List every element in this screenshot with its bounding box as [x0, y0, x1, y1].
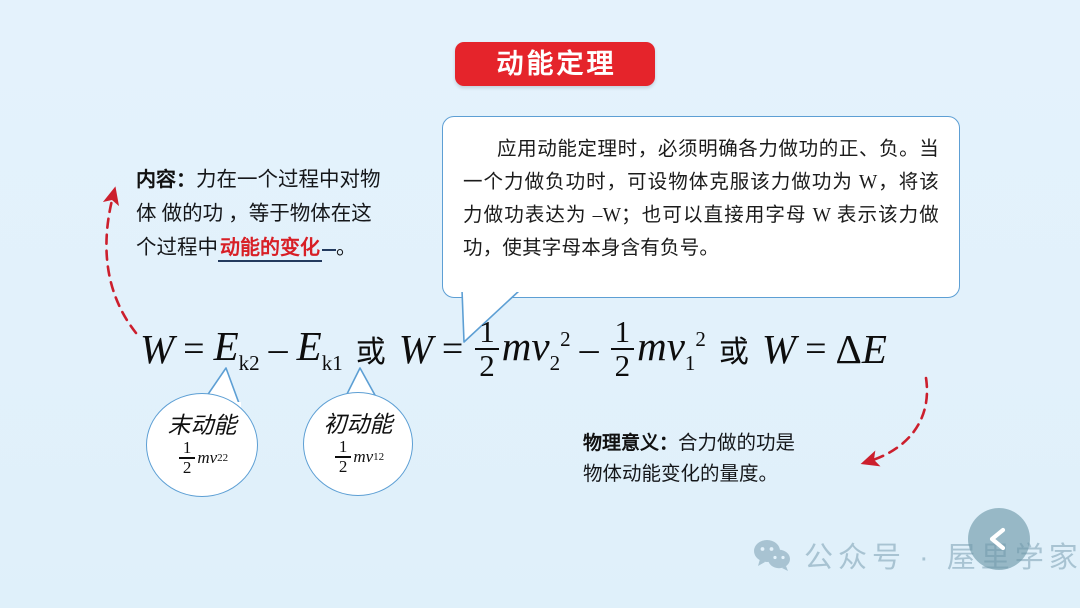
- slide-title-banner: 动能定理: [455, 42, 655, 86]
- formula-mv2-term: mv22: [502, 322, 571, 376]
- formula-w-3: W: [762, 325, 796, 373]
- main-formula: W = Ek2 – Ek1 或 W = 1 2 mv22 – 1 2 mv12 …: [140, 306, 887, 392]
- bubble-1-formula: 1 2 mv22: [176, 439, 228, 476]
- bubble-1-title: 末动能: [168, 413, 237, 438]
- bubble-2-frac: 1 2: [335, 438, 352, 475]
- formula-or-1: 或: [343, 327, 399, 371]
- content-line-3: 个过程中动能的变化。: [136, 231, 418, 265]
- formula-half-1: 1 2: [475, 316, 499, 382]
- meaning-line-1: 物理意义：合力做的功是: [583, 428, 853, 459]
- formula-ek2: Ek2: [214, 322, 260, 376]
- bubble-final-kinetic-energy: 末动能 1 2 mv22: [146, 393, 258, 497]
- callout-text: 应用动能定理时，必须明确各力做功的正、负。当一个力做负功时，可设物体克服该力做功…: [463, 133, 939, 265]
- formula-equals-1: =: [174, 327, 213, 371]
- content-line-1: 内容：力在一个过程中对物: [136, 163, 418, 197]
- chevron-left-icon: [985, 525, 1013, 553]
- back-button[interactable]: [968, 508, 1030, 570]
- formula-ek1: Ek1: [297, 322, 343, 376]
- content-line-2: 体 做的功 ，等于物体在这: [136, 197, 418, 231]
- formula-minus-1: –: [260, 327, 297, 371]
- meaning-note: 物理意义：合力做的功是 物体动能变化的量度。: [583, 428, 853, 490]
- content-emphasis: 动能的变化: [218, 237, 322, 262]
- content-text-2: 体 做的功 ，等于物体在这: [136, 203, 372, 225]
- formula-equals-3: =: [796, 327, 835, 371]
- content-label: 内容：: [136, 169, 196, 191]
- annotation-arrows: [0, 0, 1080, 608]
- bubble-initial-kinetic-energy: 初动能 1 2 mv12: [303, 392, 413, 496]
- watermark: 公众号 · 屋里学家: [752, 534, 1080, 576]
- content-block: 内容：力在一个过程中对物 体 做的功 ，等于物体在这 个过程中动能的变化。: [136, 163, 418, 265]
- formula-or-2: 或: [706, 327, 762, 371]
- page-title: 动能定理: [494, 51, 617, 78]
- bubble-2-title: 初动能: [324, 412, 393, 437]
- content-text-3-suffix: 。: [336, 237, 357, 259]
- arrow-content-pointer: [106, 196, 136, 333]
- formula-delta-e: ΔE: [836, 325, 887, 373]
- emphasis-underline-tail: [322, 249, 336, 251]
- bubble-2-formula: 1 2 mv12: [332, 438, 384, 475]
- callout-box: 应用动能定理时，必须明确各力做功的正、负。当一个力做负功时，可设物体克服该力做功…: [442, 116, 960, 298]
- content-text-1: 力在一个过程中对物: [196, 169, 381, 191]
- watermark-text: 公众号 · 屋里学家: [804, 534, 1080, 576]
- formula-w-1: W: [140, 325, 174, 373]
- meaning-text-1: 合力做的功是: [678, 433, 795, 454]
- meaning-line-2: 物体动能变化的量度。: [583, 459, 853, 490]
- bubble-1-frac: 1 2: [179, 439, 196, 476]
- slide-canvas: 动能定理 应用动能定理时，必须明确各力做功的正、负。当一个力做负功时，可设物体克…: [0, 0, 1080, 608]
- meaning-text-2: 物体动能变化的量度。: [583, 464, 778, 485]
- formula-minus-2: –: [571, 327, 608, 371]
- formula-mv1-term: mv12: [637, 322, 706, 376]
- formula-w-2: W: [399, 325, 433, 373]
- formula-half-2: 1 2: [611, 316, 635, 382]
- content-text-3-prefix: 个过程中: [136, 237, 218, 259]
- formula-equals-2: =: [433, 327, 472, 371]
- meaning-label: 物理意义：: [583, 433, 678, 454]
- wechat-icon: [752, 539, 792, 571]
